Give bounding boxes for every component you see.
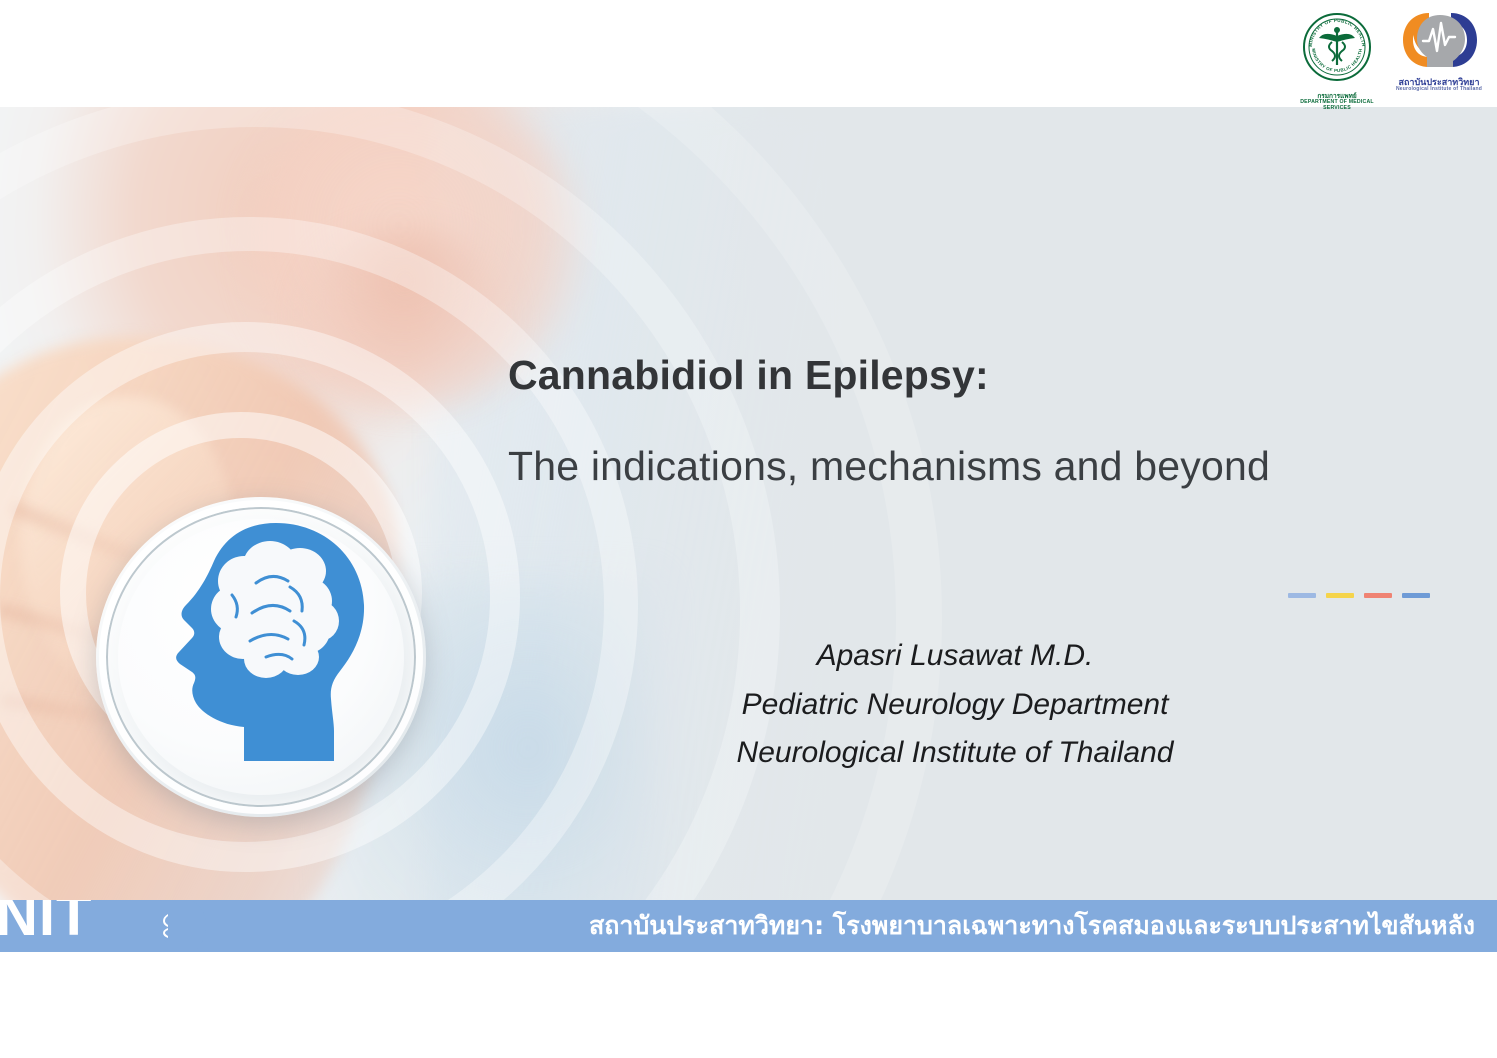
slide-title-line-1: Cannabidiol in Epilepsy: xyxy=(508,352,1440,399)
bottom-white-margin xyxy=(0,952,1497,1058)
slide-title-line-2: The indications, mechanisms and beyond xyxy=(508,443,1440,490)
dash-yellow xyxy=(1326,593,1354,598)
neurological-institute-logo: สถาบันประสาทวิทยา Neurological Institute… xyxy=(1393,9,1485,93)
nit-head-profile-icon xyxy=(160,900,208,952)
head-with-brain-icon xyxy=(148,517,376,767)
nit-caption-english: Neurological Institute of Thailand xyxy=(1393,87,1485,93)
moph-caption: กรมการแพทย์ DEPARTMENT OF MEDICAL SERVIC… xyxy=(1291,93,1383,112)
author-institute: Neurological Institute of Thailand xyxy=(470,729,1440,778)
author-name: Apasri Lusawat M.D. xyxy=(470,632,1440,681)
dash-salmon xyxy=(1364,593,1392,598)
institution-logos: MINISTRY OF PUBLIC HEALTH MINISTRY OF PU… xyxy=(1291,9,1485,112)
dash-blue xyxy=(1402,593,1430,598)
dash-light-blue xyxy=(1288,593,1316,598)
author-block: Apasri Lusawat M.D. Pediatric Neurology … xyxy=(470,632,1440,778)
nit-brain-icon xyxy=(1393,9,1485,71)
title-block: Cannabidiol in Epilepsy: The indications… xyxy=(470,352,1440,490)
title-slide: Cannabidiol in Epilepsy: The indications… xyxy=(0,107,1497,952)
color-dashes-decoration xyxy=(1288,593,1430,598)
footer-bar: NIT สถาบันประสาทวิทยา: โรงพยาบาลเฉพาะทาง… xyxy=(0,900,1497,952)
nit-logo-text: NIT xyxy=(0,900,92,942)
ministry-of-public-health-logo: MINISTRY OF PUBLIC HEALTH MINISTRY OF PU… xyxy=(1291,9,1383,112)
author-department: Pediatric Neurology Department xyxy=(470,681,1440,730)
nit-caption: สถาบันประสาทวิทยา Neurological Institute… xyxy=(1393,77,1485,93)
nit-footer-logo: NIT xyxy=(0,900,210,952)
footer-thai-text: สถาบันประสาทวิทยา: โรงพยาบาลเฉพาะทางโรคส… xyxy=(589,906,1475,946)
top-white-margin xyxy=(0,0,1497,107)
stethoscope-chest-piece xyxy=(96,497,426,817)
moph-caption-english: DEPARTMENT OF MEDICAL SERVICES xyxy=(1291,100,1383,112)
moph-seal-icon: MINISTRY OF PUBLIC HEALTH MINISTRY OF PU… xyxy=(1291,9,1383,87)
